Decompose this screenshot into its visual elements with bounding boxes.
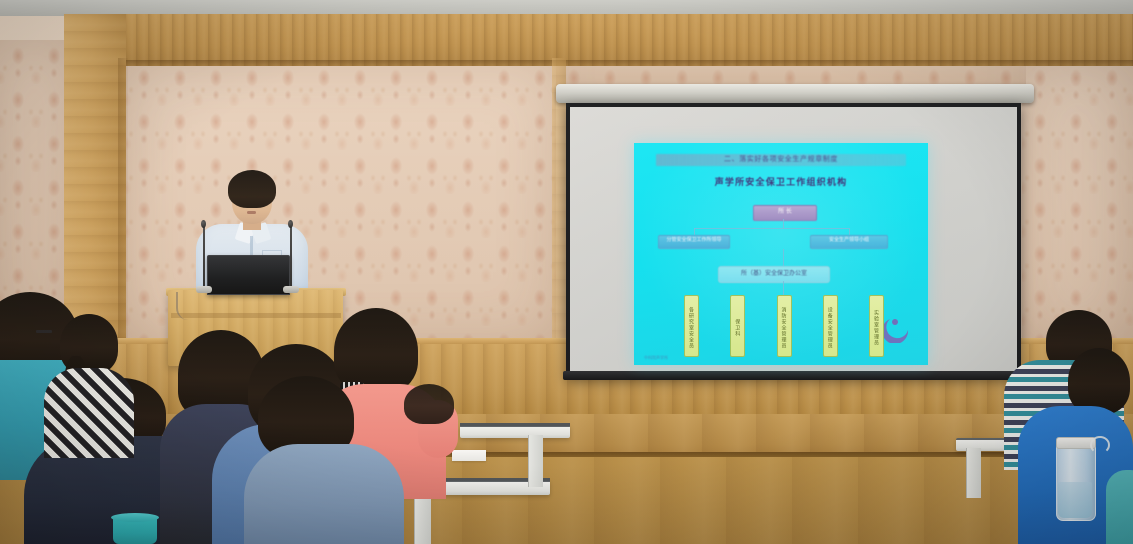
desk-leg-far-right <box>966 448 981 498</box>
attendee-hair <box>1068 348 1130 414</box>
presenter-laptop <box>207 255 290 295</box>
upper-wood-beam-shadow <box>64 60 1133 66</box>
desk-edge-upper-right <box>460 423 570 426</box>
org-chart-mid-right-box: 安全生产领导小组 <box>810 235 888 249</box>
org-leaf-box: 保卫科 <box>730 295 745 357</box>
attendee-shirt <box>1106 470 1133 544</box>
wallpaper-panel-right <box>1022 62 1133 344</box>
desk-leg-mid-left <box>414 492 431 544</box>
wall-pilaster-left-shadow <box>118 58 128 344</box>
org-connector-drop-right <box>849 228 850 235</box>
org-connector-vertical-top <box>783 219 784 228</box>
screen-roller-housing <box>556 84 1034 103</box>
institute-logo-icon <box>884 313 914 343</box>
notebook-paper <box>452 450 486 461</box>
org-connector-to-leaves <box>783 281 784 295</box>
slide-subtitle: 声学所安全保卫工作组织机构 <box>634 175 928 188</box>
org-leaf-box: 消防安全管理员 <box>777 295 792 357</box>
org-leaf-box: 设备安全管理员 <box>823 295 838 357</box>
water-bottle-loop <box>1090 436 1110 454</box>
presenter-hair <box>228 170 276 208</box>
microphone-right-stem <box>290 226 292 290</box>
org-connector-drop-left <box>694 228 695 235</box>
water-bottle-liquid <box>1058 482 1092 518</box>
podium-cable <box>176 292 200 320</box>
microphone-right-head <box>288 220 293 228</box>
org-chart-leaf-row: 各研究室安全员 保卫科 消防安全管理员 设备安全管理员 实验室管理员 <box>684 295 884 357</box>
org-leaf-box: 实验室管理员 <box>869 295 884 357</box>
presenter-mouth <box>247 211 256 214</box>
microphone-left-base <box>196 286 212 293</box>
org-chart-office-box: 所（基）安全保卫办公室 <box>718 266 830 283</box>
upper-wood-beam <box>64 14 1133 66</box>
projected-slide: 二、落实好各项安全生产规章制度 声学所安全保卫工作组织机构 所 长 分管安全保卫… <box>634 143 928 365</box>
wall-pilaster-left <box>64 14 126 344</box>
microphone-left-head <box>201 220 206 228</box>
desk-upper-right <box>460 425 570 438</box>
slide-title: 二、落实好各项安全生产规章制度 <box>656 154 906 166</box>
screen-bottom-bar <box>563 371 1024 380</box>
slide-footer: 中科院声学所 <box>644 355 668 361</box>
presenter-eye-right <box>257 196 264 198</box>
attendee-hair <box>404 384 454 424</box>
glasses-icon <box>36 330 52 333</box>
microphone-left-stem <box>203 226 205 290</box>
microphone-right-base <box>283 286 299 293</box>
presenter-eye-left <box>240 196 247 198</box>
teal-cup-rim <box>111 513 159 522</box>
org-leaf-box: 各研究室安全员 <box>684 295 699 357</box>
org-connector-to-wide <box>783 249 784 266</box>
org-chart-mid-left-box: 分管安全保卫工作所领导 <box>658 235 730 249</box>
org-chart-top-box: 所 长 <box>753 205 817 221</box>
lecture-hall-photo: 二、落实好各项安全生产规章制度 声学所安全保卫工作组织机构 所 长 分管安全保卫… <box>0 0 1133 544</box>
desk-leg-upper-right <box>528 435 543 487</box>
attendee-shirt <box>244 444 404 544</box>
org-connector-horizontal <box>694 228 849 229</box>
attendee-shirt <box>44 368 134 458</box>
